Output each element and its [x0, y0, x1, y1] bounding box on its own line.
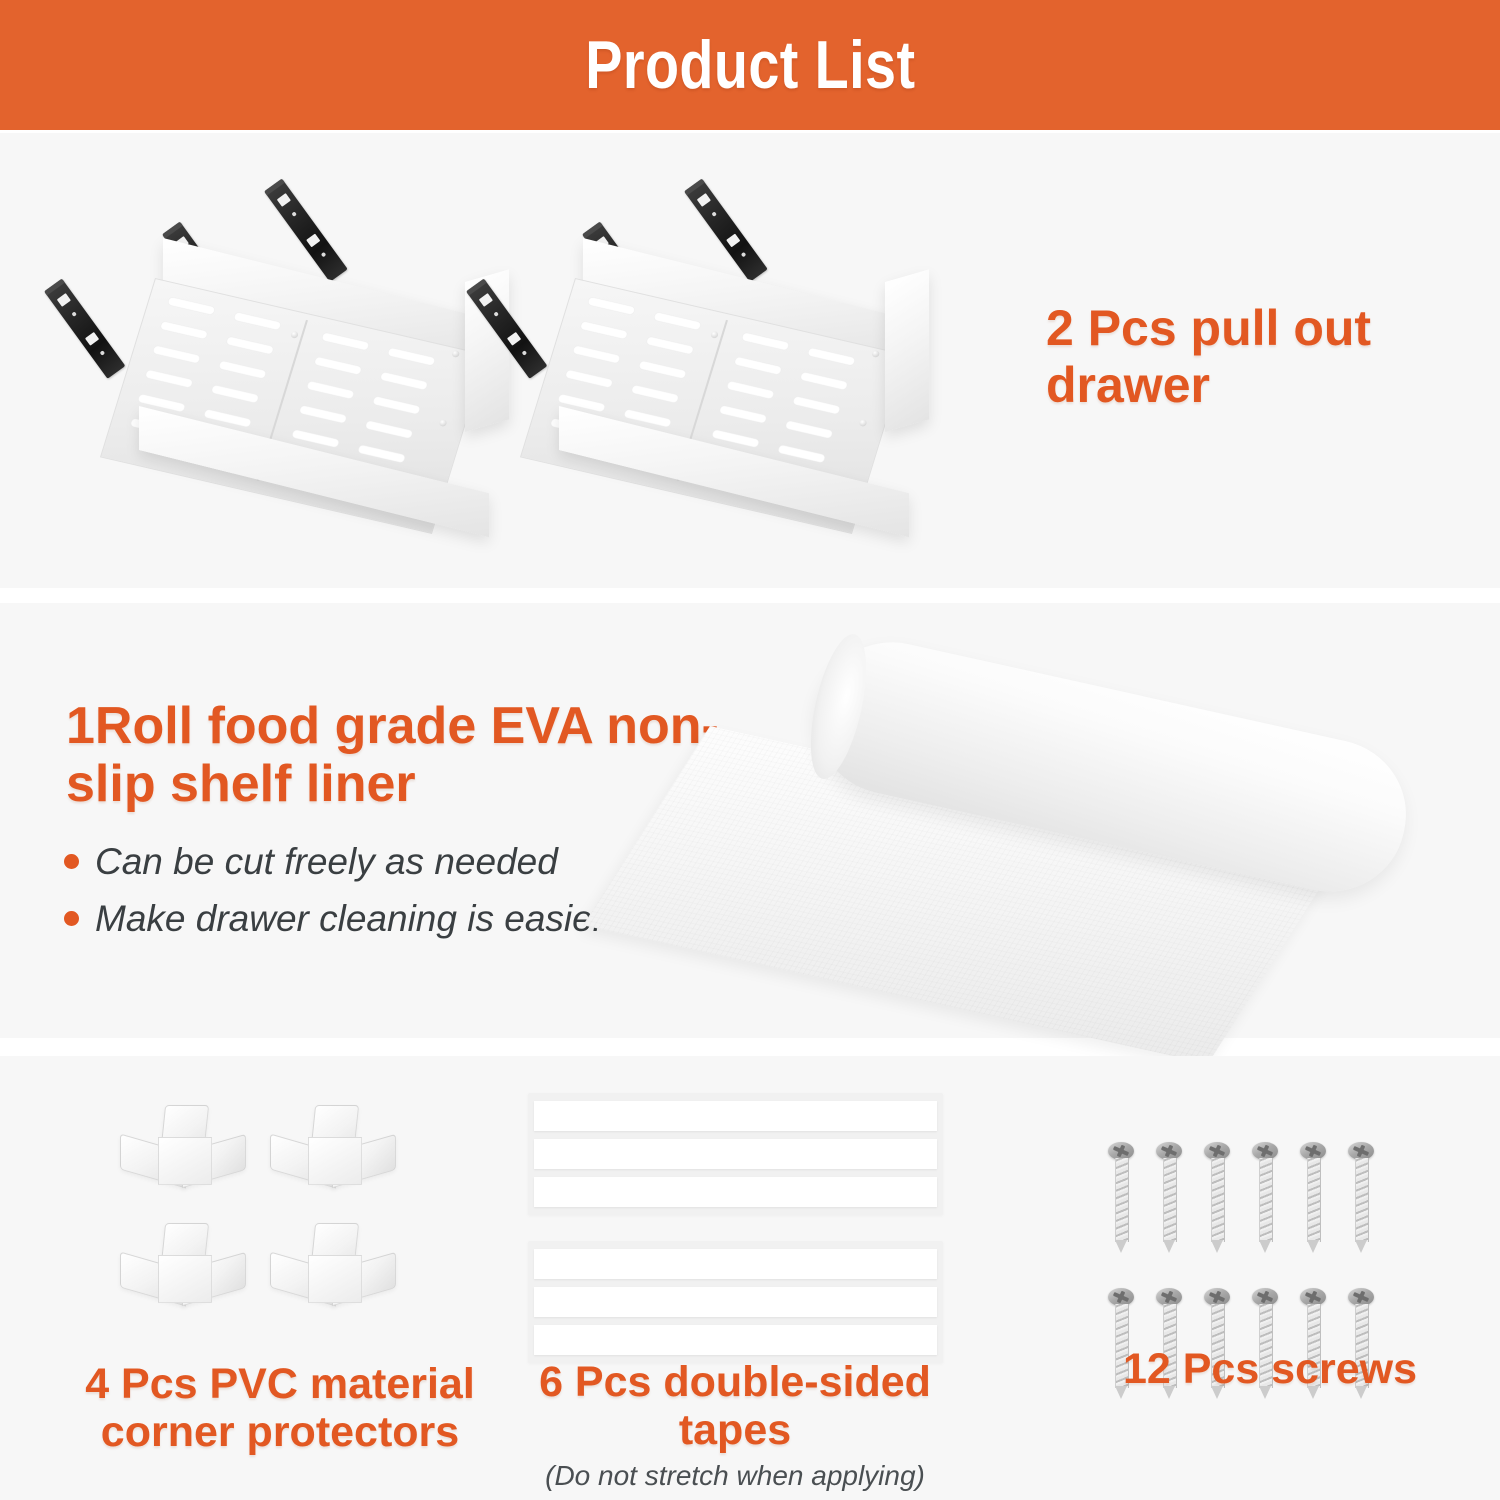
page-title: Product List	[585, 26, 915, 104]
bullet-dot-icon	[64, 911, 79, 926]
corner-protector	[120, 1223, 248, 1323]
bullet-dot-icon	[64, 854, 79, 869]
rail-mark	[479, 293, 493, 307]
rail-mark	[277, 193, 291, 207]
corner-protector	[120, 1105, 248, 1205]
rail-mark	[57, 293, 71, 307]
drawer-caption: 2 Pcs pull out drawer	[1046, 300, 1446, 414]
screws-caption: 12 Pcs screws	[1060, 1345, 1480, 1393]
rail-cap	[684, 179, 705, 196]
screw	[1348, 1142, 1374, 1252]
screw	[1108, 1142, 1134, 1252]
drawer-tray	[135, 238, 515, 538]
tape-strip	[534, 1287, 937, 1317]
tape-strip	[534, 1139, 937, 1169]
rail-cap	[582, 222, 603, 239]
rail-cap	[162, 222, 183, 239]
corner-protector	[270, 1223, 398, 1323]
liner-bullet-text: Can be cut freely as needed	[95, 838, 558, 885]
screw	[1156, 1142, 1182, 1252]
screw	[1252, 1142, 1278, 1252]
rail-dot	[493, 311, 499, 317]
product-list-infographic: Product List	[0, 0, 1500, 1500]
rail-dot	[71, 311, 77, 317]
tape-bundle	[528, 1241, 943, 1363]
double-sided-tape-group	[528, 1093, 943, 1389]
rail-dot	[291, 211, 297, 217]
liner-roll-end-cap	[800, 629, 877, 783]
screw	[1300, 1142, 1326, 1252]
liner-heading: 1Roll food grade EVA non-slip shelf line…	[66, 697, 756, 813]
rail-dot	[711, 211, 717, 217]
corner-protectors-caption: 4 Pcs PVC material corner protectors	[45, 1360, 515, 1456]
tape-bundle	[528, 1093, 943, 1215]
tapes-caption-text: 6 Pcs double-sided tapes	[539, 1358, 931, 1454]
drawer-tray	[555, 238, 935, 538]
corner-protector-group	[120, 1105, 430, 1325]
tape-strip	[534, 1177, 937, 1207]
tape-strip	[534, 1325, 937, 1355]
header-banner: Product List	[0, 0, 1500, 130]
rail-cap	[44, 279, 65, 296]
rail-mark	[85, 332, 99, 346]
tape-strip	[534, 1101, 937, 1131]
slide-rail	[44, 279, 125, 379]
rail-mark	[507, 332, 521, 346]
rail-cap	[264, 179, 285, 196]
tape-strip	[534, 1249, 937, 1279]
rail-dot	[522, 350, 528, 356]
tray-side-wall	[885, 269, 929, 432]
liner-bullet-text: Make drawer cleaning is easier	[95, 895, 605, 942]
tapes-caption: 6 Pcs double-sided tapes (Do not stretch…	[500, 1358, 970, 1492]
rail-dot	[100, 350, 106, 356]
corner-protector	[270, 1105, 398, 1205]
screw-row	[1108, 1142, 1398, 1252]
screw	[1204, 1142, 1230, 1252]
tapes-caption-note: (Do not stretch when applying)	[500, 1460, 970, 1491]
rail-mark	[697, 193, 711, 207]
liner-product-image	[700, 614, 1460, 1014]
